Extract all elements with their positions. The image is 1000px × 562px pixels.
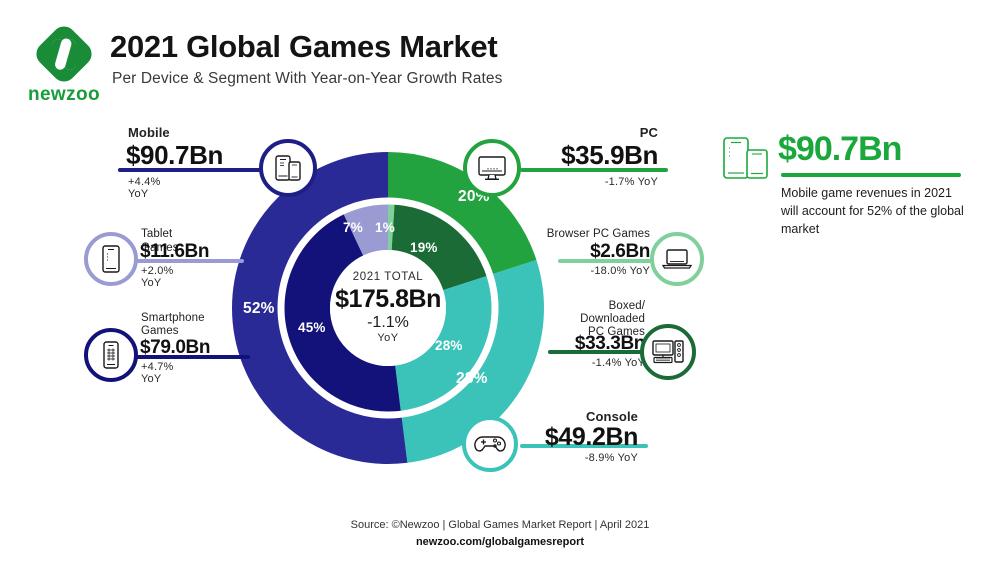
callout-boxed-title-line2: Downloaded bbox=[535, 313, 645, 327]
center-yoy-value: -1.1% bbox=[367, 315, 409, 332]
center-total-value: $175.8Bn bbox=[335, 286, 441, 312]
callout-mobile-value: $90.7Bn bbox=[126, 140, 223, 171]
infographic-canvas: newzoo 2021 Global Games Market Per Devi… bbox=[0, 0, 1000, 562]
callout-boxed-title-line1: Boxed/ bbox=[535, 300, 645, 314]
label-outer-mobile-pct: 52% bbox=[243, 300, 275, 318]
callout-pc-value: $35.9Bn bbox=[528, 140, 658, 171]
right-panel-rule bbox=[781, 173, 961, 177]
gamepad-icon bbox=[473, 432, 507, 456]
brand-logo: newzoo bbox=[22, 22, 106, 106]
footer-url[interactable]: newzoo.com/globalgamesreport bbox=[0, 536, 1000, 548]
callout-smartphone-yoy: +4.7% YoY bbox=[141, 361, 174, 385]
brand-name: newzoo bbox=[22, 84, 106, 106]
callout-browser-value: $2.6Bn bbox=[545, 241, 650, 263]
callout-browser-title: Browser PC Games bbox=[545, 228, 650, 242]
callout-smartphone-value: $79.0Bn bbox=[140, 337, 210, 359]
center-yoy-label: YoY bbox=[377, 333, 398, 345]
callout-tablet-value: $11.6Bn bbox=[140, 241, 209, 263]
callout-boxed-yoy: -1.4% YoY bbox=[535, 357, 645, 369]
newzoo-diamond-logo bbox=[32, 22, 96, 86]
callout-mobile-title: Mobile bbox=[128, 125, 170, 140]
callout-console-value: $49.2Bn bbox=[518, 423, 638, 452]
callout-mobile-bubble[interactable] bbox=[259, 139, 317, 197]
callout-console-bubble[interactable] bbox=[462, 416, 518, 472]
smartphone-icon bbox=[101, 340, 121, 370]
page-subtitle: Per Device & Segment With Year-on-Year G… bbox=[112, 70, 503, 88]
callout-boxed-bubble[interactable] bbox=[640, 324, 696, 380]
label-inner-browser-pct: 1% bbox=[375, 220, 395, 235]
desktop-monitor-icon bbox=[476, 154, 508, 182]
right-panel-icon bbox=[722, 136, 770, 191]
callout-console-yoy: -8.9% YoY bbox=[528, 452, 638, 464]
page-title: 2021 Global Games Market bbox=[110, 29, 497, 65]
desktop-tower-icon bbox=[651, 338, 685, 366]
callout-browser-bubble[interactable] bbox=[650, 232, 704, 286]
center-total-label: 2021 TOTAL bbox=[353, 271, 424, 283]
tablet-icon bbox=[100, 244, 122, 274]
laptop-icon bbox=[661, 247, 693, 271]
callout-tablet-yoy: +2.0% YoY bbox=[141, 265, 174, 289]
callout-pc-yoy: -1.7% YoY bbox=[548, 176, 658, 188]
callout-pc-title: PC bbox=[548, 125, 658, 140]
label-outer-console-pct: 28% bbox=[456, 370, 488, 388]
right-panel-description: Mobile game revenues in 2021 will accoun… bbox=[781, 184, 971, 238]
callout-browser-yoy: -18.0% YoY bbox=[545, 265, 650, 277]
callout-mobile-yoy: +4.4% YoY bbox=[128, 176, 161, 200]
callout-tablet-bubble[interactable] bbox=[84, 232, 138, 286]
callout-smartphone-bubble[interactable] bbox=[84, 328, 138, 382]
right-panel-value: $90.7Bn bbox=[778, 130, 901, 169]
donut-center-text: 2021 TOTAL $175.8Bn -1.1% YoY bbox=[318, 238, 458, 378]
callout-smartphone-title-line1: Smartphone bbox=[141, 312, 205, 326]
two-phones-icon bbox=[722, 136, 770, 186]
callout-boxed-value: $33.3Bn bbox=[535, 333, 645, 355]
two-phones-icon bbox=[273, 154, 303, 182]
label-inner-tablet-pct: 7% bbox=[343, 220, 363, 235]
callout-pc-bubble[interactable] bbox=[463, 139, 521, 197]
footer-source: Source: ©Newzoo | Global Games Market Re… bbox=[0, 519, 1000, 531]
